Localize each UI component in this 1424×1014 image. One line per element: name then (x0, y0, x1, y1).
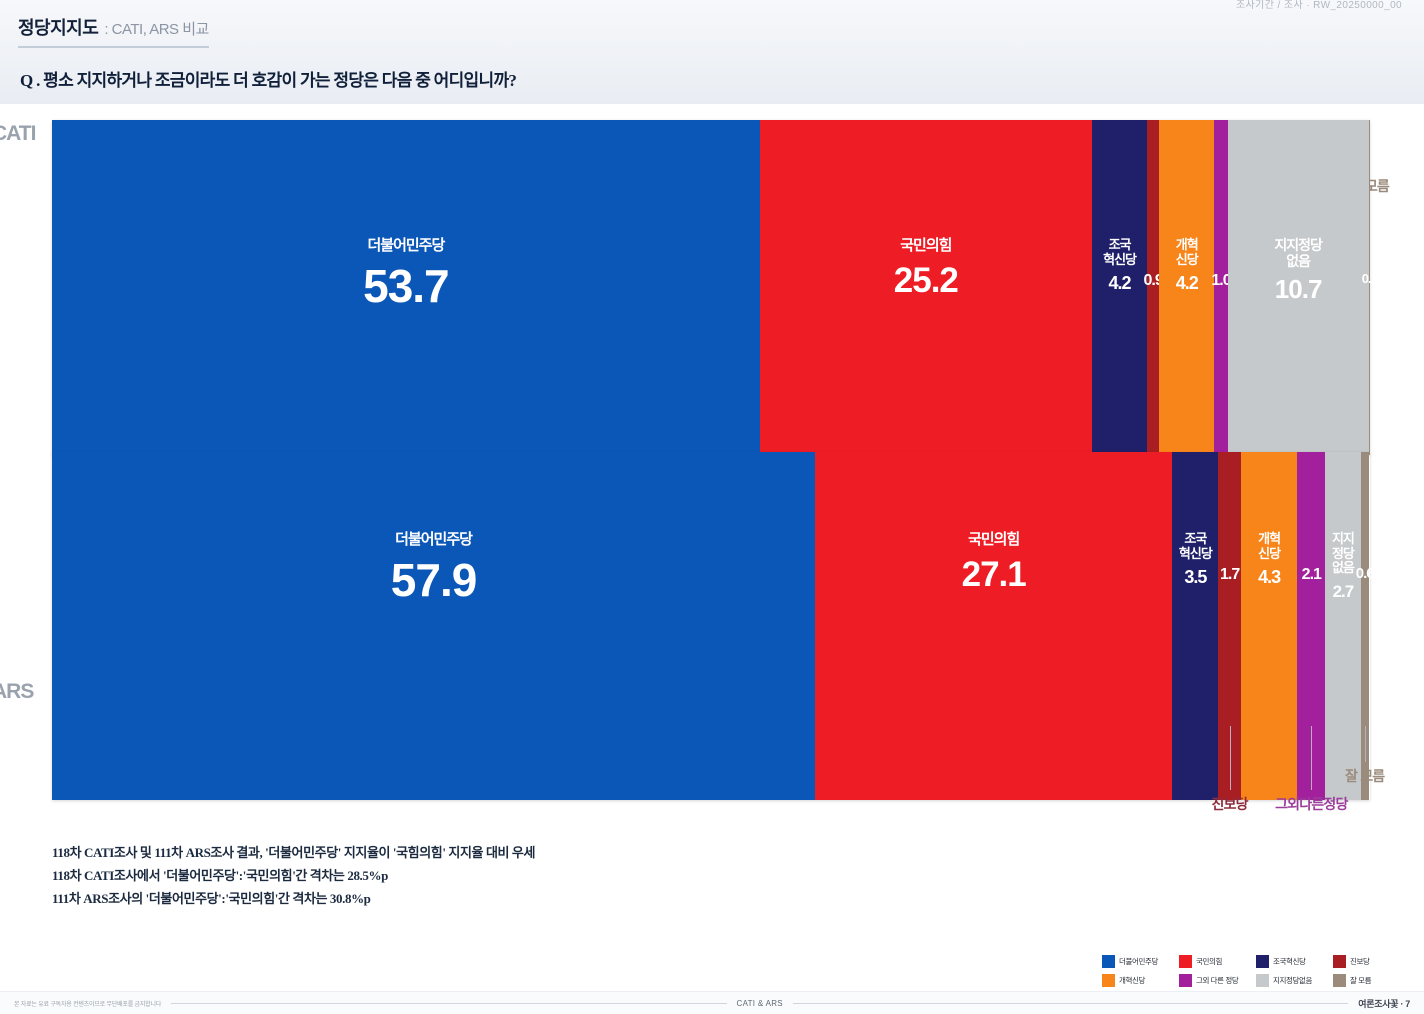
footer-brand-page: 여론조사꽃 · 7 (1358, 997, 1410, 1010)
legend-label: 국민의힘 (1196, 956, 1222, 967)
note-line: 111차 ARS조사의 '더불어민주당':'국민의힘'간 격차는 30.8%p (52, 888, 535, 911)
legend-swatch (1256, 955, 1269, 968)
legend-item: 잘 모름 (1333, 971, 1408, 990)
footer-copyright: 본 자료는 유료 구독자용 컨텐츠이므로 무단배포를 금지합니다 (14, 999, 161, 1008)
legend-swatch (1179, 955, 1192, 968)
segment-label: 더불어민주당 (363, 238, 449, 255)
segment-value: 0.6 (1356, 566, 1374, 583)
legend-swatch (1179, 974, 1192, 987)
segment-label: 더불어민주당 (391, 532, 477, 549)
legend-label: 조국혁신당 (1273, 956, 1306, 967)
segment-value: 0.1 (1362, 272, 1377, 287)
segment-value: 53.7 (363, 261, 449, 313)
segment-value: 4.2 (1103, 273, 1136, 293)
legend-label: 지지정당없음 (1273, 975, 1312, 986)
segment-label: 개혁신당 (1176, 238, 1198, 267)
legend-swatch (1256, 974, 1269, 987)
segment-value: 4.3 (1258, 567, 1280, 587)
footer-rule-left (171, 1003, 726, 1004)
segment-label: 조국혁신당 (1179, 532, 1212, 561)
legend-label: 개혁신당 (1119, 975, 1145, 986)
row-label-ars: ARS (0, 680, 33, 704)
segment-label: 국민의힘 (962, 532, 1026, 549)
bar-segment: 1.0 (1214, 120, 1227, 455)
page-title-sub: : CATI, ARS 비교 (104, 18, 209, 39)
bar-segment: 조국혁신당4.2 (1092, 120, 1147, 455)
segment-label: 개혁신당 (1258, 532, 1280, 561)
callout-leader-line-bottom (1311, 726, 1312, 790)
legend-item: 진보당 (1333, 952, 1408, 971)
segment-label: 조국혁신당 (1103, 238, 1136, 267)
bar-segment: 지지정당없음10.7 (1228, 120, 1369, 455)
legend-swatch (1333, 955, 1346, 968)
segment-value: 57.9 (391, 555, 477, 607)
segment-value: 10.7 (1274, 275, 1322, 304)
notes-block: 118차 CATI조사 및 111차 ARS조사 결과, '더불어민주당' 지지… (52, 842, 535, 910)
segment-value: 4.2 (1176, 273, 1198, 293)
legend-item: 개혁신당 (1102, 971, 1177, 990)
survey-question: Q . 평소 지지하거나 조금이라도 더 호감이 가는 정당은 다음 중 어디입… (20, 66, 516, 91)
chart-legend: 더불어민주당국민의힘조국혁신당진보당개혁신당그외 다른 정당지지정당없음잘 모름 (1102, 952, 1408, 990)
legend-label: 그외 다른 정당 (1196, 975, 1238, 986)
segment-label: 국민의힘 (894, 238, 958, 255)
page-title: 정당지지도 : CATI, ARS 비교 (18, 14, 209, 48)
footer-rule-right (793, 1003, 1348, 1004)
legend-label: 진보당 (1350, 956, 1370, 967)
legend-item: 조국혁신당 (1256, 952, 1331, 971)
slide-meta: 조사기간 / 조사 · RW_20250000_00 (1236, 0, 1402, 11)
legend-item: 지지정당없음 (1256, 971, 1331, 990)
legend-swatch (1102, 974, 1115, 987)
footer: 본 자료는 유료 구독자용 컨텐츠이므로 무단배포를 금지합니다 CATI & … (0, 991, 1424, 1014)
chart-area: 진보당그외다른정당잘 모름 CATI더불어민주당53.7국민의힘25.2조국혁신… (0, 104, 1424, 834)
legend-label: 잘 모름 (1350, 975, 1371, 986)
segment-label: 지지정당없음 (1274, 238, 1322, 269)
stacked-bar-cati: 더불어민주당53.7국민의힘25.2조국혁신당4.20.9개혁신당4.21.0지… (52, 120, 1370, 455)
callout-label-bottom: 진보당 (1212, 794, 1248, 814)
legend-label: 더불어민주당 (1119, 956, 1158, 967)
footer-center-label: CATI & ARS (737, 999, 783, 1008)
legend-swatch (1333, 974, 1346, 987)
segment-value: 2.1 (1302, 566, 1321, 584)
segment-value: 27.1 (962, 555, 1026, 594)
bar-segment: 국민의힘25.2 (760, 120, 1092, 455)
legend-item: 국민의힘 (1179, 952, 1254, 971)
callout-label-bottom: 그외다른정당 (1275, 794, 1347, 814)
callout-leader-line-bottom (1365, 726, 1366, 762)
segment-value: 2.7 (1332, 582, 1354, 601)
bar-segment: 개혁신당4.2 (1159, 120, 1214, 455)
legend-item: 그외 다른 정당 (1179, 971, 1254, 990)
legend-swatch (1102, 955, 1115, 968)
bar-segment: 0.9 (1147, 120, 1159, 455)
callout-label-bottom: 잘 모름 (1345, 766, 1384, 786)
page-title-main: 정당지지도 (18, 14, 98, 40)
segment-label: 지지정당없음 (1332, 532, 1354, 576)
note-line: 118차 CATI조사 및 111차 ARS조사 결과, '더불어민주당' 지지… (52, 842, 535, 865)
legend-item: 더불어민주당 (1102, 952, 1177, 971)
segment-value: 25.2 (894, 261, 958, 300)
bar-segment: 0.1 (1369, 120, 1370, 455)
note-line: 118차 CATI조사에서 '더불어민주당':'국민의힘'간 격차는 28.5%… (52, 865, 535, 888)
callout-group-bottom: 진보당그외다른정당잘 모름 (0, 724, 1424, 834)
row-label-cati: CATI (0, 122, 35, 146)
bar-segment: 더불어민주당53.7 (52, 120, 760, 455)
segment-value: 1.7 (1220, 566, 1239, 584)
segment-value: 3.5 (1179, 567, 1212, 587)
callout-leader-line-bottom (1230, 726, 1231, 790)
